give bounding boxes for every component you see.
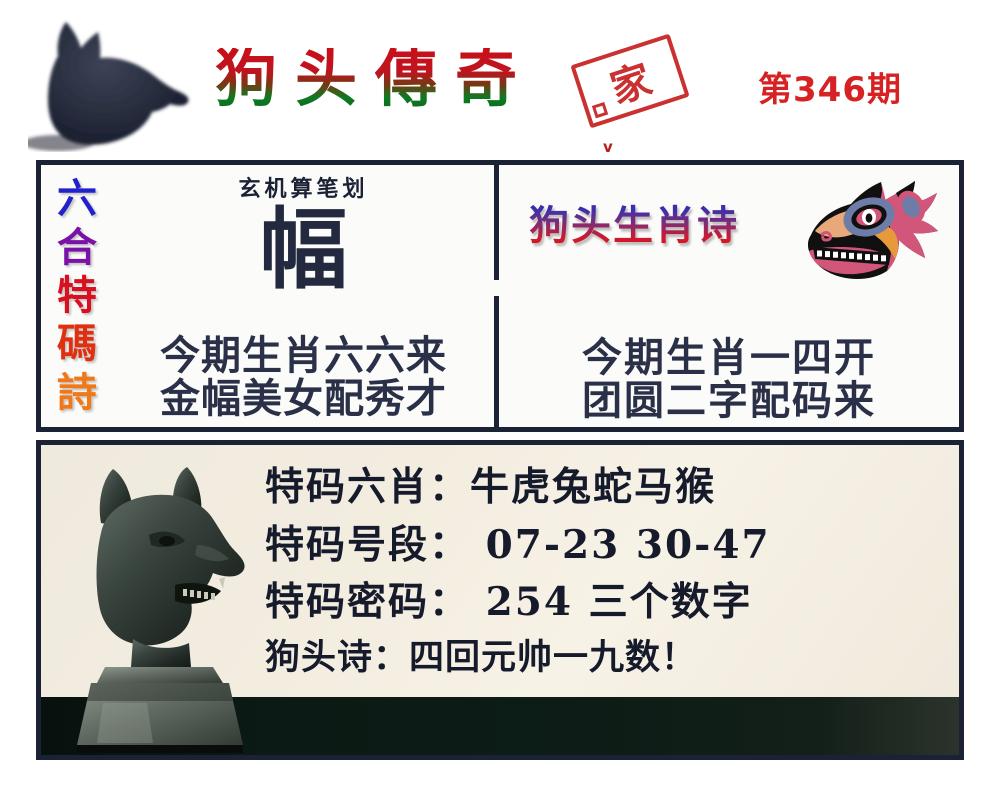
seal-notch-icon [592,102,608,118]
dog-head-silhouette-icon [28,12,208,152]
right-poem-line-1: 今期生肖一四开 [503,337,955,380]
red-seal-stamp: 家 [570,34,689,129]
vertical-char-1: 六 [57,179,97,219]
middle-panel-frame: 六 合 特 碼 詩 玄机算笔划 幅 今期生肖六六来 金幅美女配秀才 狗头生肖诗 [36,160,964,432]
brand-title: 狗 头 傳 奇 [215,48,517,110]
right-panel: 狗头生肖诗 [499,165,959,427]
vertical-title-column: 六 合 特 碼 詩 [41,165,113,427]
bottom-info-panel: 特码六肖：牛虎兔蛇马猴 特码号段： 07-23 30-47 特码密码： 254 … [36,440,964,760]
right-panel-title: 狗头生肖诗 [529,193,739,251]
brand-char-2: 头 [295,48,357,110]
seal-text: 家 [602,47,658,115]
center-poem-line-2: 金幅美女配秀才 [117,378,490,421]
brand-char-1: 狗 [215,48,277,110]
center-panel-top: 玄机算笔划 幅 [113,165,494,335]
brand-char-3: 傳 [375,48,437,110]
poster-header: 狗 头 傳 奇 家 v 第346期 [0,0,1000,158]
issue-number: 第346期 [758,62,902,111]
vertical-char-2: 合 [57,228,97,268]
center-big-character: 幅 [259,205,347,293]
right-poem: 今期生肖一四开 团圆二字配码来 [499,337,959,427]
right-panel-top: 狗头生肖诗 [499,165,959,337]
center-poem-line-1: 今期生肖六六来 [117,335,490,378]
info-line-number-ranges: 特码号段： 07-23 30-47 [265,517,949,575]
right-poem-line-2: 团圆二字配码来 [503,380,955,423]
info-line-special-zodiacs: 特码六肖：牛虎兔蛇马猴 [265,459,949,517]
poster-root: 狗 头 傳 奇 家 v 第346期 六 合 特 碼 詩 玄机算笔划 幅 [0,0,1000,800]
info-line-secret-code: 特码密码： 254 三个数字 [265,574,949,632]
center-poem: 今期生肖六六来 金幅美女配秀才 [113,335,494,427]
vertical-char-5: 詩 [57,373,97,413]
center-panel: 玄机算笔划 幅 今期生肖六六来 金幅美女配秀才 [113,165,499,427]
bronze-dog-head-statue-icon [57,453,287,753]
info-line-dog-head-poem: 狗头诗：四回元帅一九数！ [265,632,949,684]
seal-tick-mark-icon: v [603,138,613,156]
vertical-char-3: 特 [57,276,97,316]
brand-char-4: 奇 [455,48,517,110]
tribal-dog-head-icon [795,173,945,291]
vertical-char-4: 碼 [57,324,97,364]
bottom-info-list: 特码六肖：牛虎兔蛇马猴 特码号段： 07-23 30-47 特码密码： 254 … [265,459,949,684]
